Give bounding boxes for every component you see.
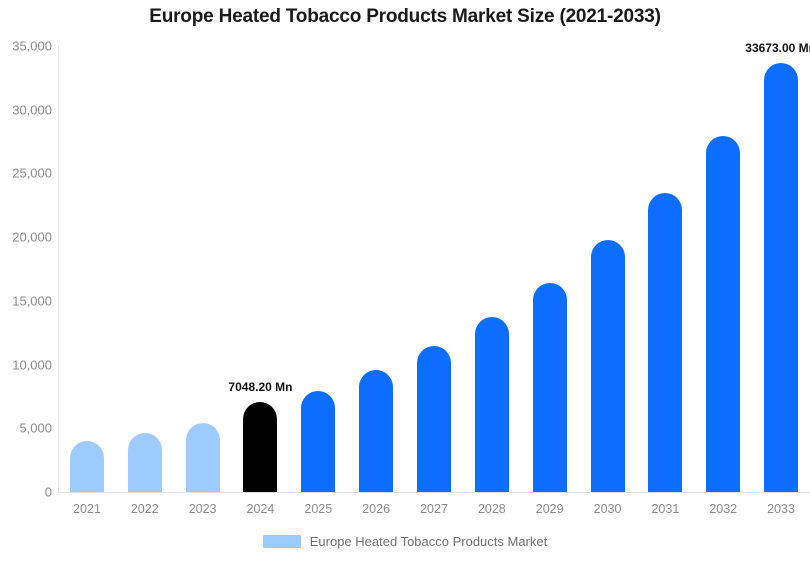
x-axis-tick-label: 2022 [131,502,159,516]
x-axis-tick-label: 2031 [651,502,679,516]
bar-2032[interactable] [706,136,740,492]
bar-2028[interactable] [475,317,509,492]
bar-2023[interactable] [186,423,220,492]
bar-value-label-2033: 33673.00 Mn [745,41,810,55]
bar-2029[interactable] [533,283,567,492]
bar-2022[interactable] [128,433,162,492]
x-axis-tick-label: 2026 [362,502,390,516]
bar-2030[interactable] [591,240,625,492]
plot-area [58,46,810,492]
bar-2021[interactable] [70,441,104,492]
bar-2026[interactable] [359,370,393,492]
x-axis-tick-label: 2024 [247,502,275,516]
x-axis-tick-label: 2021 [73,502,101,516]
bar-2024[interactable] [243,402,277,492]
legend-item[interactable]: Europe Heated Tobacco Products Market [263,534,548,549]
x-axis-tick-label: 2028 [478,502,506,516]
x-axis-tick-label: 2025 [304,502,332,516]
x-axis-line [58,492,810,493]
x-axis-tick-label: 2023 [189,502,217,516]
bar-value-label-2024: 7048.20 Mn [228,380,292,394]
y-axis-tick-label: 20,000 [0,230,52,245]
bar-2027[interactable] [417,346,451,492]
x-axis-tick-label: 2030 [594,502,622,516]
y-axis-tick-label: 30,000 [0,102,52,117]
x-axis-tick-label: 2027 [420,502,448,516]
bar-2033[interactable] [764,63,798,492]
x-axis: 2021202220232024202520262027202820292030… [58,502,810,522]
y-axis-tick-label: 15,000 [0,293,52,308]
chart-container: Europe Heated Tobacco Products Market Si… [0,0,810,562]
y-axis-tick-label: 0 [0,485,52,500]
y-axis-tick-label: 10,000 [0,357,52,372]
y-axis-tick-label: 5,000 [0,421,52,436]
chart-title: Europe Heated Tobacco Products Market Si… [0,6,810,28]
x-axis-tick-label: 2029 [536,502,564,516]
chart-legend: Europe Heated Tobacco Products Market [0,534,810,549]
y-axis: 05,00010,00015,00020,00025,00030,00035,0… [0,0,52,562]
y-axis-tick-label: 35,000 [0,39,52,54]
legend-label: Europe Heated Tobacco Products Market [310,534,548,549]
legend-swatch-icon [263,535,301,548]
bar-2031[interactable] [648,193,682,492]
x-axis-tick-label: 2032 [709,502,737,516]
y-axis-tick-label: 25,000 [0,166,52,181]
x-axis-tick-label: 2033 [767,502,795,516]
bar-2025[interactable] [301,391,335,492]
